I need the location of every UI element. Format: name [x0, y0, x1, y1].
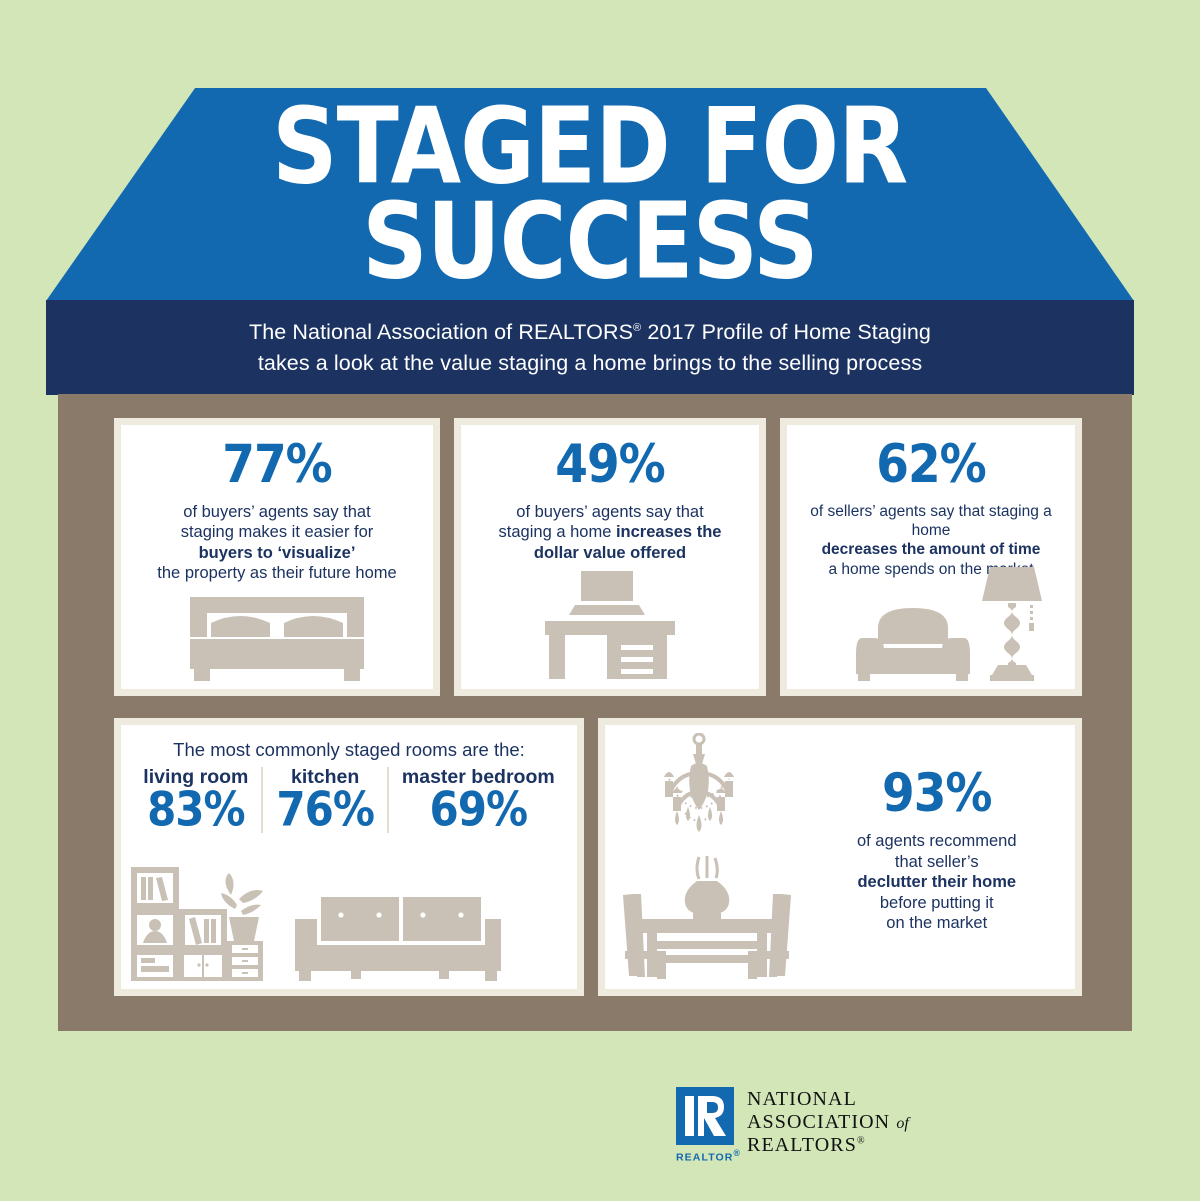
subtitle-text-b: 2017 Profile of Home Staging: [641, 320, 931, 344]
page-title-line-2: SUCCESS: [362, 193, 818, 292]
room-percent: 83%: [143, 786, 248, 835]
room-percent: 69%: [402, 786, 555, 835]
icon-area: [787, 565, 1075, 683]
card-text-block: 62% of sellers’ agents say that staging …: [787, 425, 1075, 579]
logo-line-1: NATIONAL: [747, 1088, 909, 1111]
stat-card-time-on-market: 62% of sellers’ agents say that staging …: [780, 418, 1082, 696]
stat-card-staged-rooms: The most commonly staged rooms are the: …: [114, 718, 584, 996]
logo-line-3-text: REALTORS: [747, 1134, 857, 1156]
room-kitchen: kitchen 76%: [261, 767, 387, 833]
logo-wordmark: NATIONAL ASSOCIATION of REALTORS®: [747, 1087, 909, 1156]
logo-line-2: ASSOCIATION of: [747, 1111, 909, 1134]
stats-row-top: 77% of buyers’ agents say that staging m…: [114, 418, 1082, 696]
stat-percent: 93%: [817, 768, 1058, 821]
icon-area: [461, 565, 759, 683]
desc-emphasis-2: dollar value offered: [534, 544, 686, 562]
rooms-heading: The most commonly staged rooms are the:: [121, 725, 577, 761]
title-block: STAGED FOR SUCCESS: [46, 88, 1134, 301]
card-text-block: 49% of buyers’ agents say that staging a…: [461, 425, 759, 563]
desk-icon: [535, 565, 685, 683]
card-inner: 49% of buyers’ agents say that staging a…: [461, 425, 759, 689]
card-inner: 62% of sellers’ agents say that staging …: [787, 425, 1075, 689]
card-inner: 77% of buyers’ agents say that staging m…: [121, 425, 433, 689]
icon-area: [121, 593, 433, 683]
potted-plant: [221, 873, 263, 941]
stat-description: of buyers’ agents say that staging a hom…: [461, 502, 759, 563]
card-inner: The most commonly staged rooms are the: …: [121, 725, 577, 989]
stat-percent: 77%: [121, 438, 433, 491]
stat-description: of agents recommend that seller’s declut…: [817, 831, 1058, 933]
logo-line-2-italic: of: [896, 1115, 908, 1132]
card-inner: 93% of agents recommend that seller’s de…: [605, 725, 1075, 989]
desc-line-5: on the market: [886, 914, 987, 932]
declutter-text-block: 93% of agents recommend that seller’s de…: [817, 725, 1076, 989]
chandelier-icon: [643, 733, 755, 845]
sofa-icon: [291, 883, 505, 983]
logo-line-3: REALTORS®: [747, 1134, 909, 1157]
desc-line-1: of buyers’ agents say that: [516, 503, 703, 521]
desc-emphasis: decreases the amount of time: [822, 541, 1041, 558]
desc-emphasis: increases the: [616, 523, 721, 541]
declutter-icons: [605, 725, 817, 989]
subtitle-band: The National Association of REALTORS® 20…: [46, 300, 1134, 395]
stat-percent: 49%: [461, 438, 759, 491]
desc-line-2: staging makes it easier for: [181, 523, 374, 541]
desc-line-2: that seller’s: [895, 853, 979, 871]
infographic-root: STAGED FOR SUCCESS The National Associat…: [0, 0, 1200, 1201]
logo-r-glyph: [676, 1087, 734, 1145]
nar-logo: REALTOR® NATIONAL ASSOCIATION of REALTOR…: [676, 1087, 909, 1164]
room-master-bedroom: master bedroom 69%: [387, 767, 568, 833]
desc-line-1: of agents recommend: [857, 832, 1017, 850]
logo-mark: REALTOR®: [676, 1087, 734, 1164]
stat-description: of buyers’ agents say that staging makes…: [121, 502, 433, 584]
logo-caption-text: REALTOR: [676, 1152, 733, 1164]
card-text-block: 77% of buyers’ agents say that staging m…: [121, 425, 433, 584]
stat-card-declutter: 93% of agents recommend that seller’s de…: [598, 718, 1082, 996]
rooms-row: living room 83% kitchen 76% master bedro…: [121, 767, 577, 833]
registered-mark-icon: ®: [733, 1148, 741, 1158]
bookshelf-icon: [129, 865, 265, 983]
registered-mark-icon: ®: [857, 1135, 866, 1146]
room-percent: 76%: [276, 786, 374, 835]
desc-line-1: of buyers’ agents say that: [183, 503, 370, 521]
icon-area: [121, 865, 577, 983]
bed-icon: [184, 593, 370, 683]
room-living-room: living room 83%: [130, 767, 261, 833]
logo-caption: REALTOR®: [676, 1148, 734, 1164]
dining-table-icon: [621, 855, 793, 983]
realtor-r-icon: [676, 1087, 734, 1145]
stats-row-bottom: The most commonly staged rooms are the: …: [114, 718, 1082, 996]
logo-line-2-text: ASSOCIATION: [747, 1111, 896, 1133]
desc-line-4: before putting it: [880, 894, 994, 912]
desc-line-4: the property as their future home: [157, 564, 396, 582]
stat-card-dollar-value: 49% of buyers’ agents say that staging a…: [454, 418, 766, 696]
subtitle-line-2: takes a look at the value staging a home…: [258, 348, 922, 379]
desc-line-2: staging a home: [499, 523, 616, 541]
subtitle-line-1: The National Association of REALTORS® 20…: [249, 317, 931, 348]
lamp-icon: [976, 565, 1048, 683]
stat-percent: 62%: [787, 438, 1075, 491]
subtitle-text-a: The National Association of REALTORS: [249, 320, 633, 344]
desc-emphasis: buyers to ‘visualize’: [199, 544, 356, 562]
desc-line-1: of sellers’ agents say that staging a ho…: [810, 503, 1052, 539]
stats-grid: 77% of buyers’ agents say that staging m…: [114, 418, 1082, 996]
armchair-icon: [854, 598, 972, 683]
desc-emphasis: declutter their home: [857, 873, 1016, 891]
stat-card-visualize: 77% of buyers’ agents say that staging m…: [114, 418, 440, 696]
